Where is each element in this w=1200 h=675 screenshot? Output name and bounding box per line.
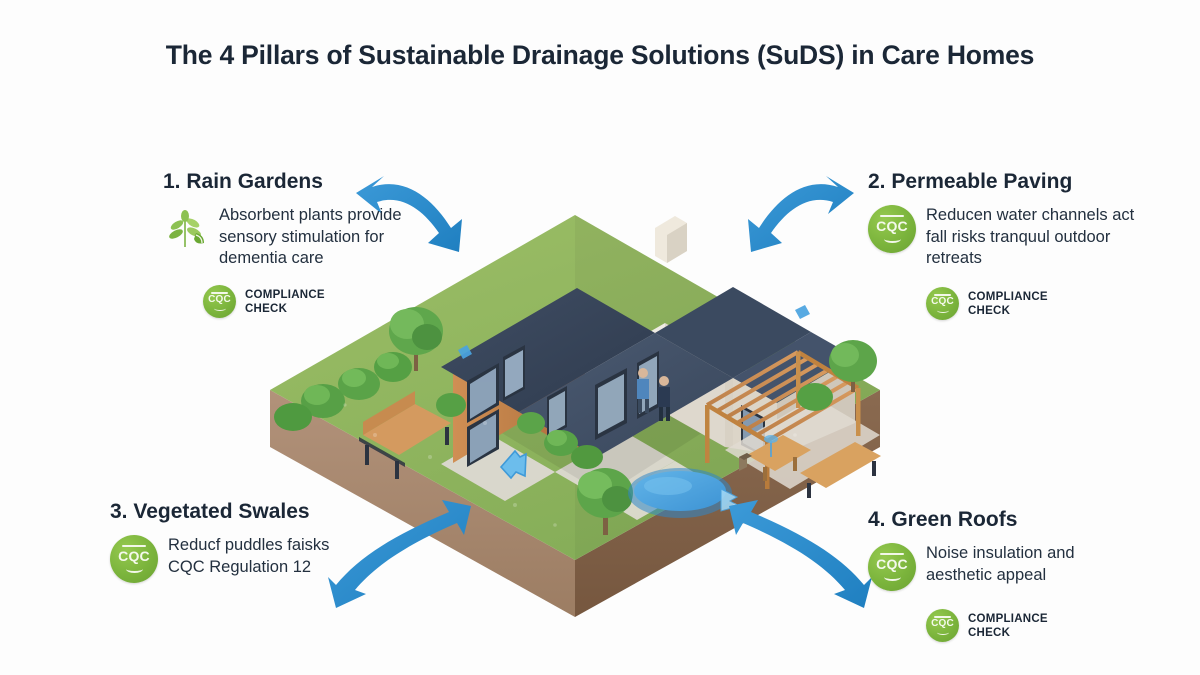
cqc-bar (880, 215, 904, 218)
pillar-1-heading: 1. Rain Gardens (163, 170, 433, 193)
pillar-2-stamp-text: COMPLIANCE CHECK (968, 290, 1048, 318)
pillar-4-stamp-text: COMPLIANCE CHECK (968, 612, 1048, 640)
cqc-smile (884, 235, 901, 243)
cqc-label: CQC (208, 295, 231, 305)
pillar-1-compliance-stamp[interactable]: CQC COMPLIANCE CHECK (203, 285, 433, 318)
cqc-label: CQC (931, 297, 954, 307)
page-title: The 4 Pillars of Sustainable Drainage So… (0, 40, 1200, 71)
cqc-smile (126, 565, 143, 573)
cqc-bar (122, 545, 146, 548)
cqc-bar (880, 553, 904, 556)
stamp-line-2: CHECK (968, 626, 1048, 640)
pillar-1-stamp-text: COMPLIANCE CHECK (245, 288, 325, 316)
cqc-smile (937, 308, 949, 313)
pillar-1-description: Absorbent plants provide sensory stimula… (219, 205, 433, 269)
cqc-label: CQC (876, 219, 908, 233)
cqc-badge-icon: CQC (926, 287, 959, 320)
plant-leaves-icon (163, 205, 209, 251)
cqc-smile (937, 630, 949, 635)
cqc-label: CQC (876, 557, 908, 571)
pillar-2-compliance-stamp[interactable]: CQC COMPLIANCE CHECK (926, 287, 1148, 320)
cqc-badge-icon: CQC (868, 205, 916, 253)
cqc-badge-icon: CQC (926, 609, 959, 642)
cqc-smile (884, 573, 901, 581)
pillar-vegetated-swales[interactable]: 3. Vegetated Swales CQC Reducf puddles f… (110, 500, 370, 583)
pillar-3-description: Reducf puddles faisks CQC Regulation 12 (168, 535, 370, 578)
stamp-line-2: CHECK (968, 304, 1048, 318)
pillar-rain-gardens[interactable]: 1. Rain Gardens Absorbent plants provide… (163, 170, 433, 318)
stamp-line-1: COMPLIANCE (245, 288, 325, 302)
cqc-badge-icon: CQC (110, 535, 158, 583)
stamp-line-1: COMPLIANCE (968, 290, 1048, 304)
stamp-line-1: COMPLIANCE (968, 612, 1048, 626)
pillar-2-description: Reducen water channels act fall risks tr… (926, 205, 1148, 269)
pillar-4-heading: 4. Green Roofs (868, 508, 1128, 531)
cqc-badge-icon: CQC (868, 543, 916, 591)
pillar-2-heading: 2. Permeable Paving (868, 170, 1148, 193)
stamp-line-2: CHECK (245, 302, 325, 316)
cqc-smile (214, 306, 226, 311)
pillar-3-heading: 3. Vegetated Swales (110, 500, 370, 523)
pillar-4-compliance-stamp[interactable]: CQC COMPLIANCE CHECK (926, 609, 1128, 642)
cqc-label: CQC (118, 549, 150, 563)
pillar-4-description: Noise insulation and aesthetic appeal (926, 543, 1128, 586)
cqc-badge-icon: CQC (203, 285, 236, 318)
cqc-label: CQC (931, 619, 954, 629)
pillar-green-roofs[interactable]: 4. Green Roofs CQC Noise insulation and … (868, 508, 1128, 642)
pillar-permeable-paving[interactable]: 2. Permeable Paving CQC Reducen water ch… (868, 170, 1148, 320)
infographic-canvas: The 4 Pillars of Sustainable Drainage So… (0, 0, 1200, 675)
